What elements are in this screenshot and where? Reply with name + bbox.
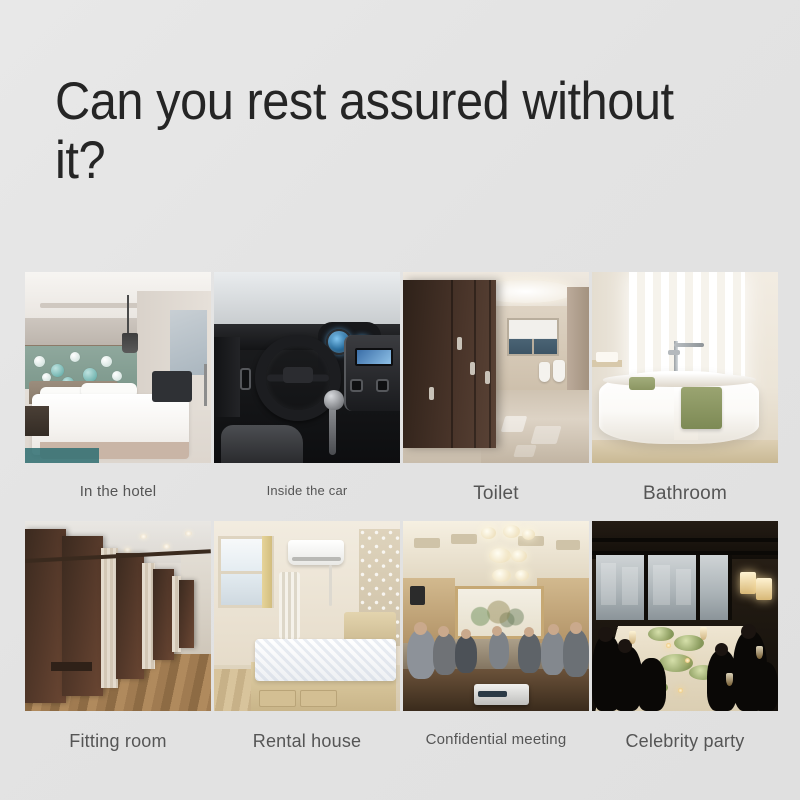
cell-caption: Confidential meeting — [403, 711, 589, 764]
grid-cell-rental-house[interactable]: Rental house — [214, 521, 400, 768]
rental-bedroom-scene[interactable] — [214, 521, 400, 711]
grid-cell-inside-the-car[interactable]: Inside the car — [214, 272, 400, 521]
cell-caption: Inside the car — [214, 463, 400, 514]
grid-cell-celebrity-party[interactable]: Celebrity party — [592, 521, 778, 768]
cell-caption: Rental house — [214, 711, 400, 768]
banquet-party-scene[interactable] — [592, 521, 778, 711]
grid-row: Fitting room Rental house — [25, 521, 775, 768]
page-title: Can you rest assured without it? — [55, 72, 727, 191]
fitting-room-scene[interactable] — [25, 521, 211, 711]
cell-caption: Fitting room — [25, 711, 211, 768]
hotel-room-scene[interactable] — [25, 272, 211, 463]
grid-cell-in-the-hotel[interactable]: In the hotel — [25, 272, 211, 521]
car-interior-scene[interactable] — [214, 272, 400, 463]
scenario-grid: In the hotel — [25, 272, 775, 768]
conference-room-scene[interactable] — [403, 521, 589, 711]
grid-cell-fitting-room[interactable]: Fitting room — [25, 521, 211, 768]
grid-cell-toilet[interactable]: Toilet — [403, 272, 589, 521]
grid-row: In the hotel — [25, 272, 775, 521]
grid-cell-confidential-meeting[interactable]: Confidential meeting — [403, 521, 589, 768]
public-restroom-scene[interactable] — [403, 272, 589, 463]
cell-caption: Celebrity party — [592, 711, 778, 768]
grid-cell-bathroom[interactable]: Bathroom — [592, 272, 778, 521]
cell-caption: Toilet — [403, 463, 589, 521]
cell-caption: In the hotel — [25, 463, 211, 516]
cell-caption: Bathroom — [592, 463, 778, 521]
bathroom-tub-scene[interactable] — [592, 272, 778, 463]
